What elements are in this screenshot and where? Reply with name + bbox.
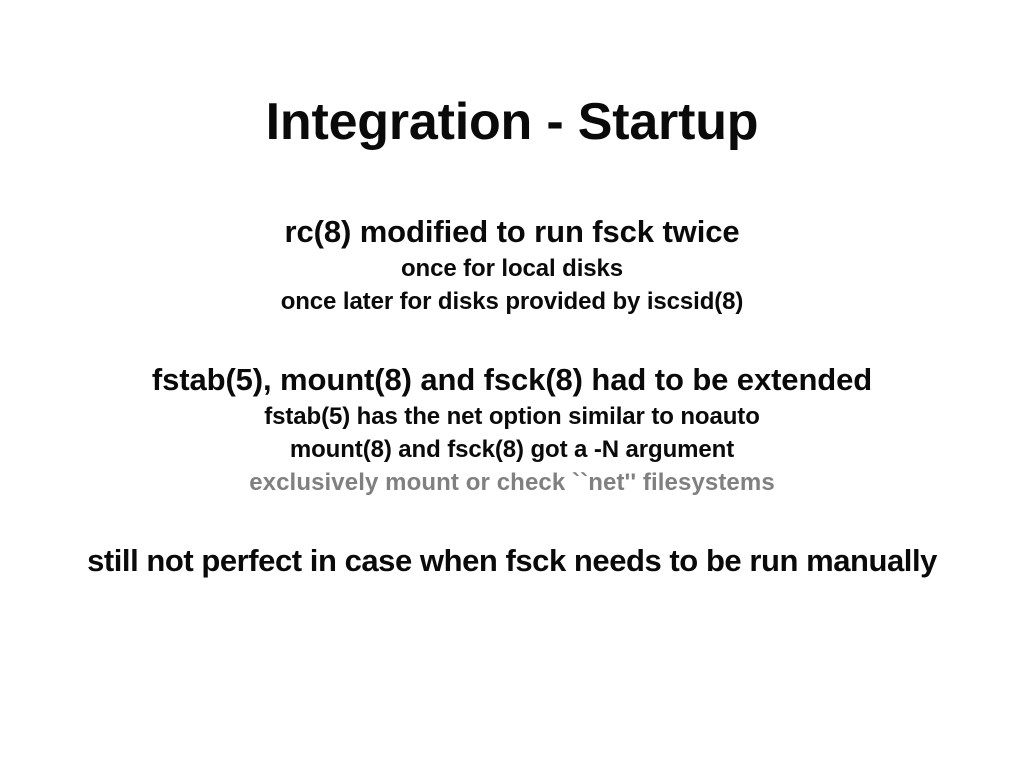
block-3-heading: still not perfect in case when fsck need…	[0, 541, 1024, 581]
content-block-1: rc(8) modified to run fsck twice once fo…	[0, 212, 1024, 318]
block-2-detail-3: exclusively mount or check ``net'' files…	[0, 466, 1024, 499]
block-1-detail-2: once later for disks provided by iscsid(…	[0, 285, 1024, 318]
page-title: Integration - Startup	[0, 92, 1024, 152]
block-2-detail-2: mount(8) and fsck(8) got a -N argument	[0, 433, 1024, 466]
content-block-2: fstab(5), mount(8) and fsck(8) had to be…	[0, 360, 1024, 499]
block-1-detail-1: once for local disks	[0, 252, 1024, 285]
block-spacer-2	[0, 499, 1024, 541]
block-2-detail-1: fstab(5) has the net option similar to n…	[0, 400, 1024, 433]
block-2-heading: fstab(5), mount(8) and fsck(8) had to be…	[0, 360, 1024, 400]
block-1-heading: rc(8) modified to run fsck twice	[0, 212, 1024, 252]
slide-body: rc(8) modified to run fsck twice once fo…	[0, 212, 1024, 581]
presentation-slide: Integration - Startup rc(8) modified to …	[0, 0, 1024, 768]
block-spacer-1	[0, 318, 1024, 360]
content-block-3: still not perfect in case when fsck need…	[0, 541, 1024, 581]
